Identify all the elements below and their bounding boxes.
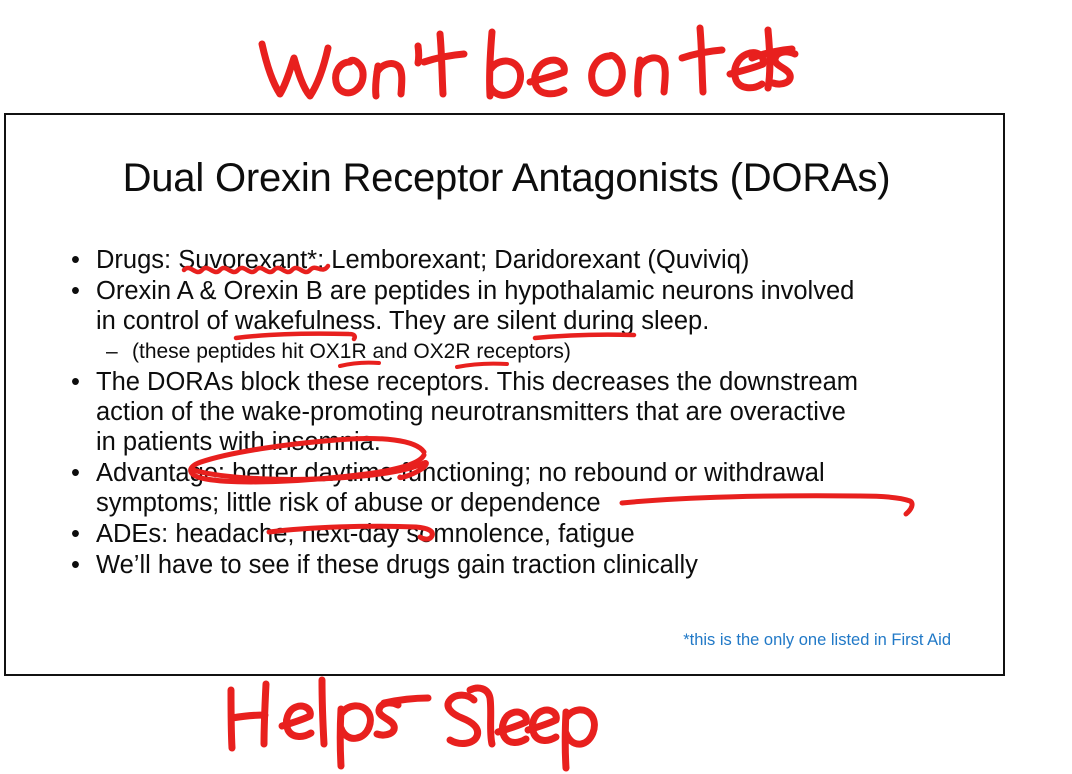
bullet-marker-icon: • [71,550,80,580]
bullet-marker-icon: • [71,367,80,397]
list-item-line: in patients with insomnia. [96,427,969,457]
list-item-line: action of the wake-promoting neurotransm… [96,397,969,427]
bullet-marker-icon: • [71,519,80,549]
slide-body-list: • Drugs: Suvorexant*; Lemborexant; Darid… [64,245,969,581]
list-item-drugs: • Drugs: Suvorexant*; Lemborexant; Darid… [64,245,969,275]
list-item-line: The DORAs block these receptors. This de… [96,367,969,397]
list-item-outlook: • We’ll have to see if these drugs gain … [64,550,969,580]
slide-frame: Dual Orexin Receptor Antagonists (DORAs)… [4,113,1005,676]
list-item-ades: • ADEs: headache, next-day somnolence, f… [64,519,969,549]
list-item-line: symptoms; little risk of abuse or depend… [96,488,969,518]
sub-bullet-marker-icon: – [106,337,118,366]
list-item-line: Drugs: Suvorexant*; Lemborexant; Daridor… [96,245,969,275]
footnote-first-aid: *this is the only one listed in First Ai… [683,631,951,650]
bullet-marker-icon: • [71,276,80,306]
list-item-line: ADEs: headache, next-day somnolence, fat… [96,519,969,549]
list-item-line: Orexin A & Orexin B are peptides in hypo… [96,276,969,306]
list-item-line: Advantage: better daytime functioning; n… [96,458,969,488]
bullet-marker-icon: • [71,245,80,275]
bullet-marker-icon: • [71,458,80,488]
annotation-top-wont-be-on-test [262,28,795,96]
list-item-mechanism: • The DORAs block these receptors. This … [64,367,969,457]
annotation-bottom-helps-sleep [231,680,594,768]
page-title: Dual Orexin Receptor Antagonists (DORAs) [6,157,1007,199]
list-item-ox-receptors: – (these peptides hit OX1R and OX2R rece… [64,337,969,366]
list-item-advantage: • Advantage: better daytime functioning;… [64,458,969,518]
list-item-line: (these peptides hit OX1R and OX2R recept… [132,340,571,363]
list-item-orexin-peptides: • Orexin A & Orexin B are peptides in hy… [64,276,969,336]
list-item-line: in control of wakefulness. They are sile… [96,306,969,336]
list-item-line: We’ll have to see if these drugs gain tr… [96,550,969,580]
